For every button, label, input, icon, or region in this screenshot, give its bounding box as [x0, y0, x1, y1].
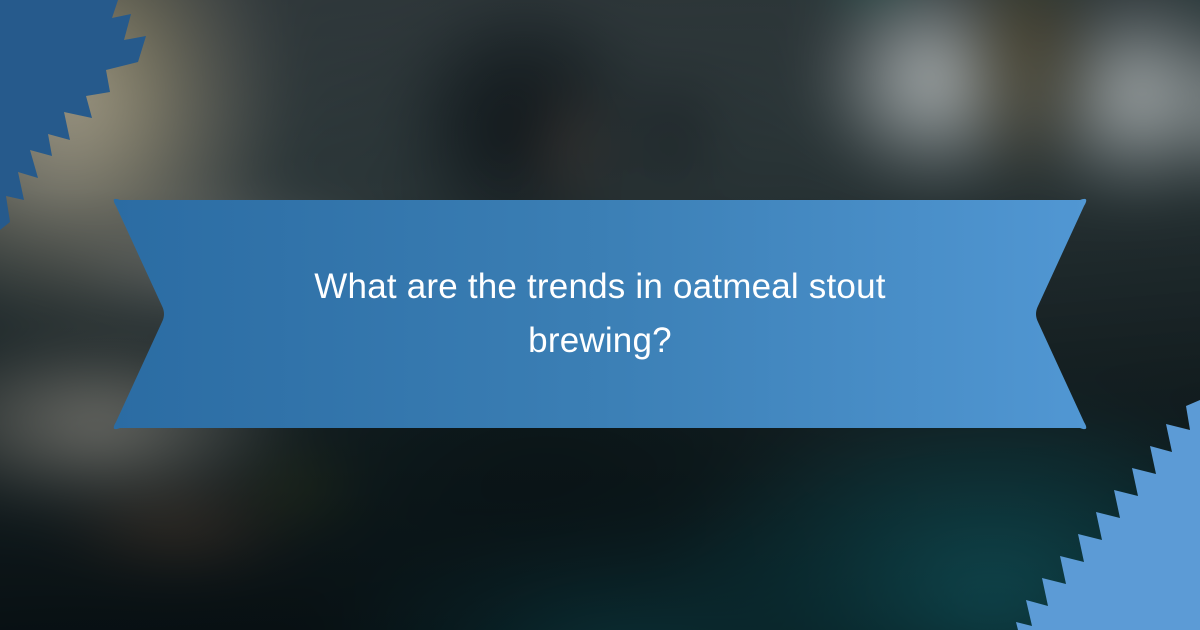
banner-heading: What are the trends in oatmeal stout bre… — [110, 196, 1090, 432]
question-banner: What are the trends in oatmeal stout bre… — [110, 196, 1090, 432]
social-card: What are the trends in oatmeal stout bre… — [0, 0, 1200, 630]
